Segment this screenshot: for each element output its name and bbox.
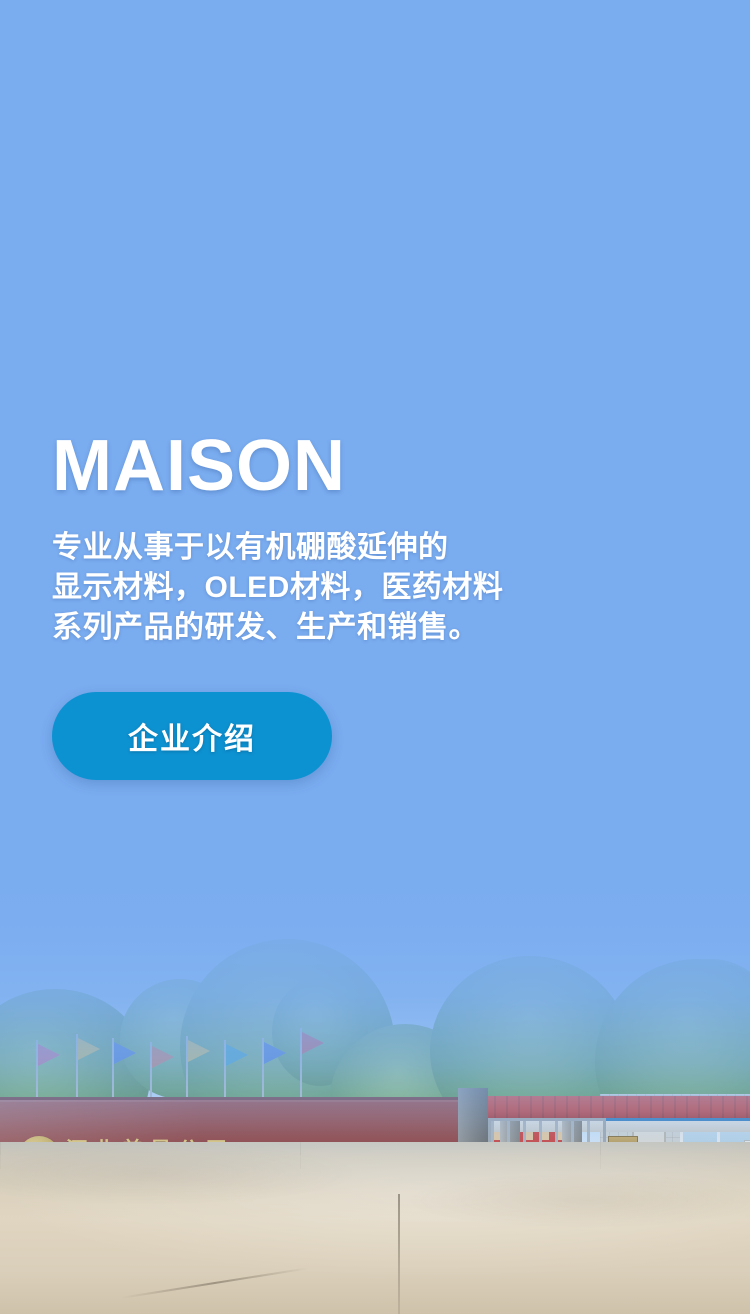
- driveway-seam: [398, 1194, 400, 1314]
- company-intro-button[interactable]: 企业介绍: [52, 692, 332, 780]
- flag-7-icon: [264, 1042, 286, 1064]
- hero-banner: 河北美星公司 MAISON CHEMICAL MAISON 专业从事于以有机硼酸…: [0, 0, 750, 1314]
- factory-entrance-photo: 河北美星公司 MAISON CHEMICAL: [0, 894, 750, 1314]
- guard-house-roof: [470, 1096, 750, 1118]
- tagline-line-3: 系列产品的研发、生产和销售。: [52, 608, 692, 648]
- flag-3-icon: [114, 1042, 136, 1064]
- tagline-line-1: 专业从事于以有机硼酸延伸的: [52, 528, 692, 568]
- flag-1-icon: [38, 1044, 60, 1066]
- driveway: [0, 1142, 750, 1314]
- flag-8-icon: [302, 1032, 324, 1054]
- flag-4-icon: [152, 1046, 174, 1068]
- hero-tagline: 专业从事于以有机硼酸延伸的 显示材料，OLED材料，医药材料 系列产品的研发、生…: [52, 528, 692, 648]
- page-title: MAISON: [52, 430, 692, 502]
- hero-copy-block: MAISON 专业从事于以有机硼酸延伸的 显示材料，OLED材料，医药材料 系列…: [52, 430, 692, 780]
- tagline-line-2: 显示材料，OLED材料，医药材料: [52, 568, 692, 608]
- flag-2-icon: [78, 1038, 100, 1060]
- flag-6-icon: [226, 1044, 248, 1066]
- flag-5-icon: [188, 1040, 210, 1062]
